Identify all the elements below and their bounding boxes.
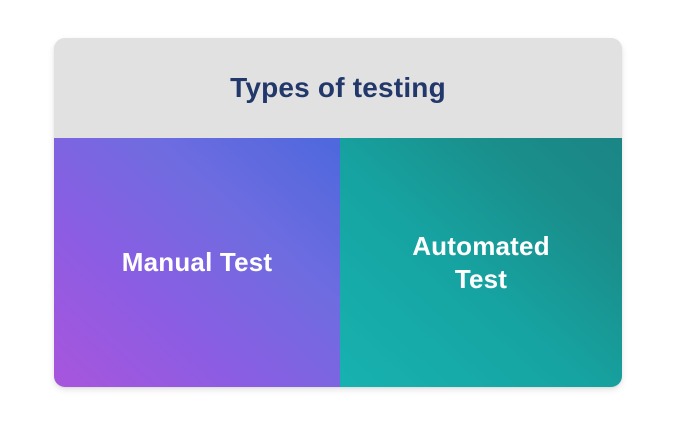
types-of-testing-card: Types of testing Manual Test Automated T… — [54, 38, 622, 387]
page-canvas: Types of testing Manual Test Automated T… — [0, 0, 678, 424]
page-title: Types of testing — [230, 73, 446, 104]
card-body: Manual Test Automated Test — [54, 138, 622, 387]
panel-manual-test[interactable]: Manual Test — [54, 138, 340, 387]
panel-manual-test-label: Manual Test — [122, 246, 273, 279]
panel-automated-test-label: Automated Test — [396, 230, 566, 296]
panel-automated-test[interactable]: Automated Test — [340, 138, 622, 387]
card-header: Types of testing — [54, 38, 622, 138]
